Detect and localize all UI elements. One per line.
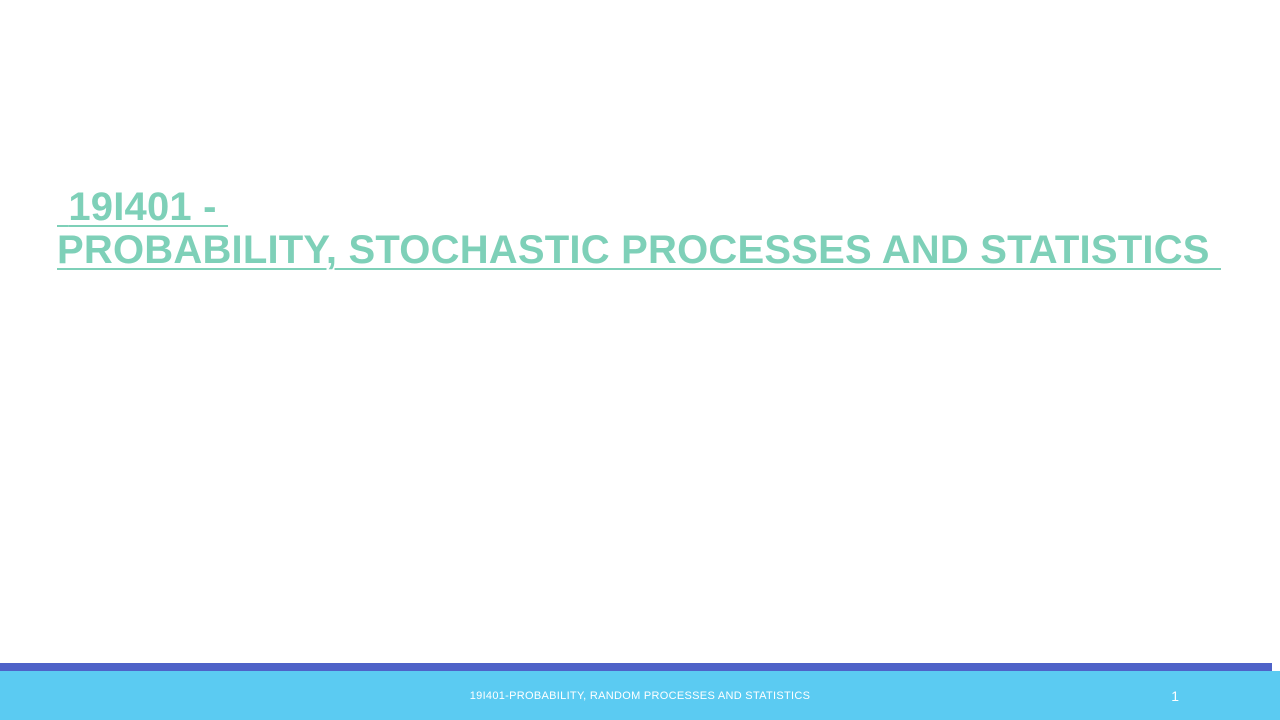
slide-title-block: 19I401 - PROBABILITY, STOCHASTIC PROCESS…	[57, 186, 1257, 272]
footer-accent-bar	[0, 663, 1272, 671]
slide-page-number: 1	[1171, 671, 1179, 720]
page-title: 19I401 - PROBABILITY, STOCHASTIC PROCESS…	[57, 186, 1257, 272]
footer-band	[0, 671, 1280, 720]
presentation-slide: 19I401 - PROBABILITY, STOCHASTIC PROCESS…	[0, 0, 1280, 720]
